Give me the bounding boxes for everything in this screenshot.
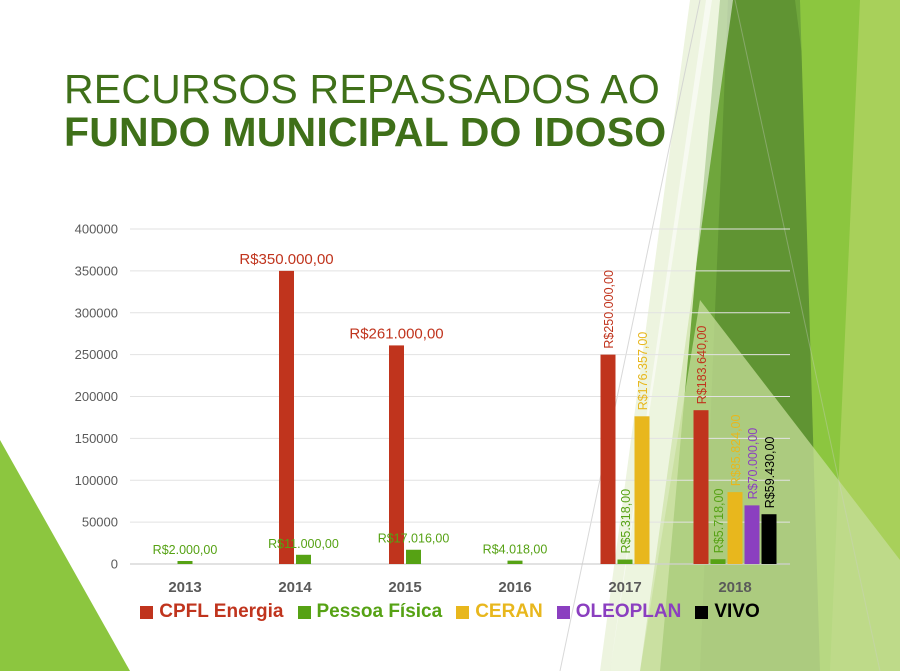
y-axis-tick-label: 200000 [75,389,118,404]
legend-swatch-icon [298,606,311,619]
legend-item-oleoplan[interactable]: OLEOPLAN [557,601,682,623]
x-axis-tick-label-2017: 2017 [608,579,641,596]
data-labels: R$2.000,00R$350.000,00R$11.000,00R$261.0… [153,251,777,557]
bar-ceran-2017[interactable] [635,416,650,564]
x-axis-tick-label-2013: 2013 [168,579,201,596]
bar-oleoplan-2018[interactable] [745,505,760,564]
bar-pessoa-f-sica-2014[interactable] [296,555,311,564]
bar-cpfl-energia-2017[interactable] [601,355,616,564]
bar-ceran-2018[interactable] [728,492,743,564]
y-axis-tick-label: 350000 [75,263,118,278]
data-label: R$4.018,00 [483,543,548,557]
x-axis-tick-label-2016: 2016 [498,579,531,596]
y-axis-tick-label: 250000 [75,347,118,362]
bar-cpfl-energia-2014[interactable] [279,271,294,564]
bar-pessoa-f-sica-2017[interactable] [618,560,633,564]
x-axis-tick-label-2014: 2014 [278,579,312,596]
data-label: R$5.318,00 [619,489,633,554]
y-axis-tick-label: 100000 [75,473,118,488]
legend-item-vivo[interactable]: VIVO [695,601,759,623]
data-label: R$350.000,00 [239,251,333,268]
chart-legend: CPFL EnergiaPessoa FísicaCERANOLEOPLANVI… [0,601,900,623]
legend-label: OLEOPLAN [576,601,682,623]
data-label: R$17.016,00 [378,532,450,546]
bar-cpfl-energia-2018[interactable] [694,410,709,564]
data-label: R$85.824,00 [729,414,743,486]
bar-pessoa-f-sica-2016[interactable] [508,561,523,564]
legend-item-cpfl-energia[interactable]: CPFL Energia [140,601,283,623]
page-title: RECURSOS REPASSADOS AO FUNDO MUNICIPAL D… [64,68,666,153]
y-axis-tick-label: 300000 [75,305,118,320]
data-label: R$59.430,00 [763,437,777,509]
title-line-2: FUNDO MUNICIPAL DO IDOSO [64,111,666,154]
y-axis-tick-label: 150000 [75,431,118,446]
legend-label: Pessoa Física [317,601,443,623]
y-axis-tick-labels: 0500001000001500002000002500003000003500… [75,222,118,572]
y-axis-tick-label: 0 [111,557,118,572]
bar-vivo-2018[interactable] [762,514,777,564]
x-axis-tick-label-2018: 2018 [718,579,751,596]
legend-label: CERAN [475,601,543,623]
legend-item-ceran[interactable]: CERAN [456,601,543,623]
data-label: R$176.357,00 [636,332,650,411]
y-axis-tick-label: 50000 [82,515,118,530]
data-label: R$70.000,00 [746,428,760,500]
data-label: R$2.000,00 [153,543,218,557]
bar-pessoa-f-sica-2013[interactable] [178,561,193,564]
legend-swatch-icon [557,606,570,619]
bars [178,271,777,564]
data-label: R$261.000,00 [349,325,443,342]
data-label: R$11.000,00 [268,537,339,551]
y-axis-tick-label: 400000 [75,222,118,237]
bar-pessoa-f-sica-2015[interactable] [406,550,421,564]
x-axis-tick-label-2015: 2015 [388,579,421,596]
slide: RECURSOS REPASSADOS AO FUNDO MUNICIPAL D… [0,0,900,671]
bar-pessoa-f-sica-2018[interactable] [711,559,726,564]
x-axis-tick-labels: 201320142015201620172018 [168,579,751,596]
legend-item-pessoa-f-sica[interactable]: Pessoa Física [298,601,443,623]
data-label: R$250.000,00 [602,270,616,349]
title-line-1: RECURSOS REPASSADOS AO [64,68,666,111]
grid-lines [130,229,790,564]
legend-label: CPFL Energia [159,601,283,623]
data-label: R$5.718,00 [712,489,726,554]
legend-swatch-icon [456,606,469,619]
data-label: R$183.640,00 [695,326,709,405]
legend-swatch-icon [140,606,153,619]
legend-label: VIVO [714,601,759,623]
legend-swatch-icon [695,606,708,619]
